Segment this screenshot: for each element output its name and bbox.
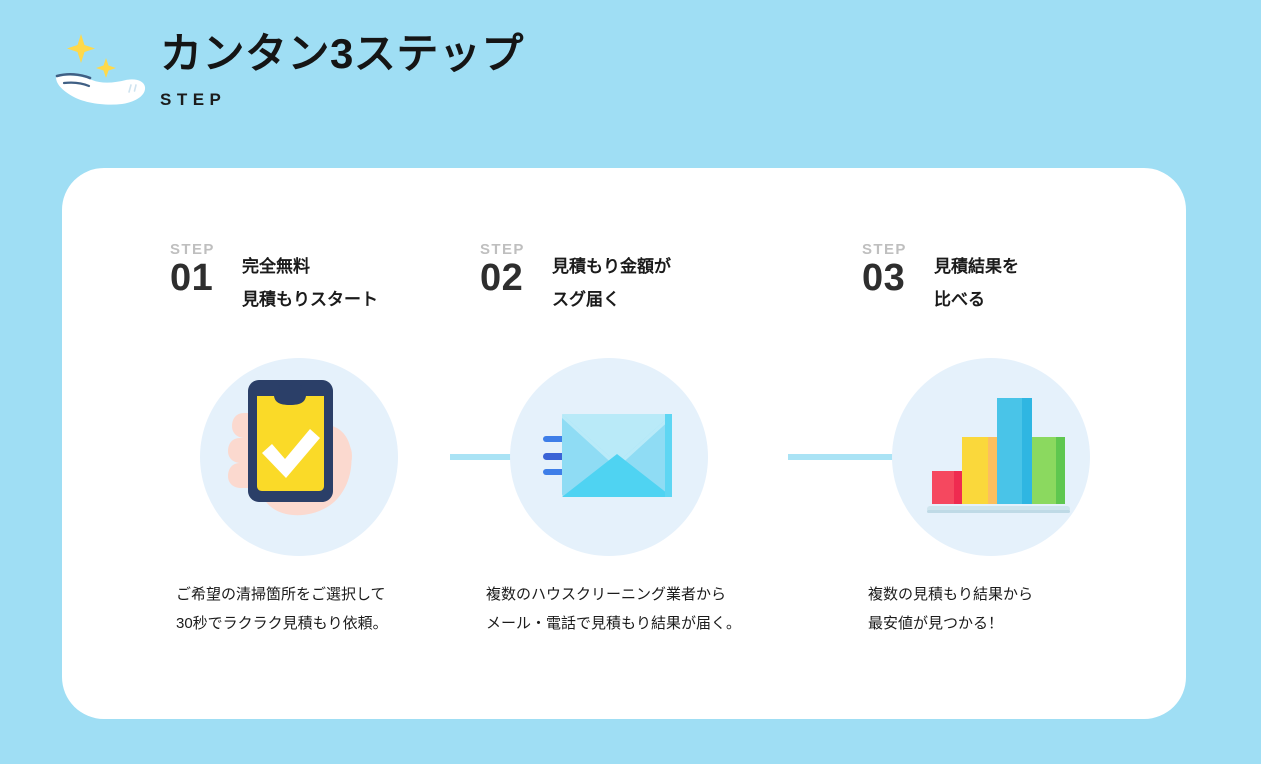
step-title-line-3b: 比べる [934,283,1019,316]
step-kicker-1: STEP [170,242,238,257]
step-title-line-2a: 見積もり金額が [552,250,671,283]
page-header: カンタン3ステップ STEP [0,0,1261,150]
step-desc-line-3b: 最安値が見つかる！ [868,609,1198,638]
step-heading-2: STEP 02 見積もり金額が スグ届く [480,242,671,316]
hand-holding-phone-check-icon [200,358,398,556]
step-description-2: 複数のハウスクリーニング業者から メール・電話で見積もり結果が届く。 [486,580,816,639]
step-illustration-3 [892,358,1090,556]
step-item-2: STEP 02 見積もり金額が スグ届く [480,168,825,719]
step-desc-line-1a: ご希望の清掃箇所をご選択して [176,580,506,609]
step-title-line-3a: 見積結果を [934,250,1019,283]
step-number-block-1: STEP 01 [170,242,238,298]
step-title-line-1a: 完全無料 [242,250,378,283]
step-heading-3: STEP 03 見積結果を 比べる [862,242,1019,316]
step-title-line-1b: 見積もりスタート [242,283,378,316]
step-kicker-2: STEP [480,242,548,257]
step-desc-line-3a: 複数の見積もり結果から [868,580,1198,609]
step-item-1: STEP 01 完全無料 見積もりスタート [170,168,515,719]
step-description-3: 複数の見積もり結果から 最安値が見つかる！ [868,580,1198,639]
step-number-1: 01 [170,259,238,298]
step-number-2: 02 [480,259,548,298]
step-title-block-2: 見積もり金額が スグ届く [552,242,671,316]
page-subtitle: STEP [160,90,524,110]
step-number-3: 03 [862,259,930,298]
step-title-block-3: 見積結果を 比べる [934,242,1019,316]
step-desc-line-1b: 30秒でラクラク見積もり依頼。 [176,609,506,638]
step-title-block-1: 完全無料 見積もりスタート [242,242,378,316]
step-item-3: STEP 03 見積結果を 比べる [862,168,1207,719]
steps-container: STEP 01 完全無料 見積もりスタート [62,168,1186,719]
step-desc-line-2a: 複数のハウスクリーニング業者から [486,580,816,609]
step-illustration-1 [200,358,398,556]
envelope-speed-icon [510,358,708,556]
step-title-line-2b: スグ届く [552,283,671,316]
header-text-block: カンタン3ステップ STEP [160,30,524,110]
step-number-block-2: STEP 02 [480,242,548,298]
sparkle-hand-icon [48,22,152,108]
step-number-block-3: STEP 03 [862,242,930,298]
step-desc-line-2b: メール・電話で見積もり結果が届く。 [486,609,816,638]
step-description-1: ご希望の清掃箇所をご選択して 30秒でラクラク見積もり依頼。 [176,580,506,639]
steps-card: STEP 01 完全無料 見積もりスタート [62,168,1186,719]
step-illustration-2 [510,358,708,556]
page-title: カンタン3ステップ [160,30,524,77]
step-kicker-3: STEP [862,242,930,257]
bar-chart-icon [892,358,1090,556]
step-heading-1: STEP 01 完全無料 見積もりスタート [170,242,378,316]
